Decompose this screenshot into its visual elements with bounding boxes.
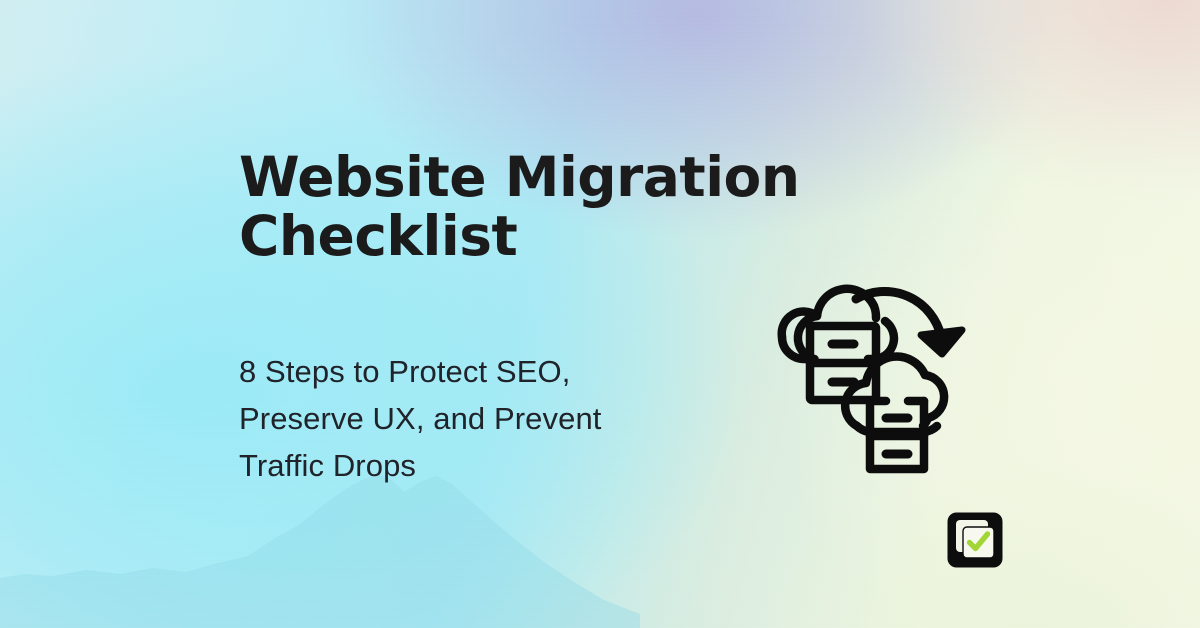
page-subtitle: 8 Steps to Protect SEO, Preserve UX, and… bbox=[239, 348, 679, 489]
page-title: Website Migration Checklist bbox=[239, 148, 819, 266]
text-block: Website Migration Checklist 8 Steps to P… bbox=[239, 148, 819, 266]
banner-canvas: Website Migration Checklist 8 Steps to P… bbox=[0, 0, 1200, 628]
checklist-check-badge-icon bbox=[946, 511, 1004, 569]
server-cabinet-source-icon bbox=[810, 326, 876, 400]
server-cabinet-target-icon bbox=[870, 401, 924, 469]
background-noise-texture bbox=[0, 0, 1200, 628]
cloud-migration-icon bbox=[752, 258, 988, 490]
